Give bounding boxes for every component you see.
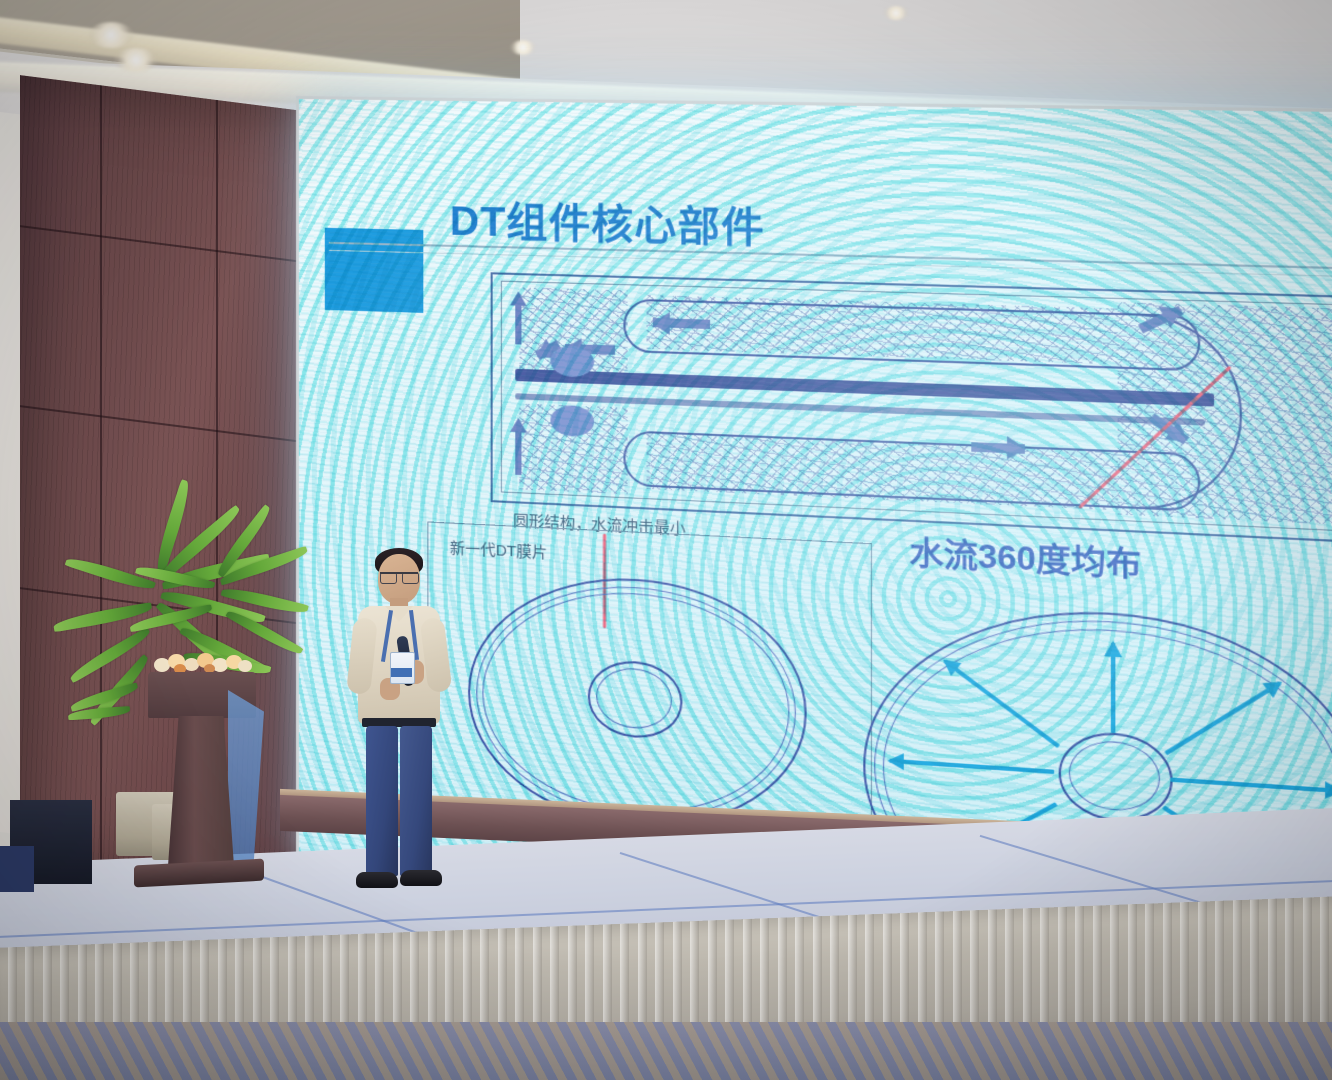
radial-flow-arrow-n: [1111, 643, 1116, 733]
id-badge-strip: [391, 668, 412, 677]
presenter-right-leg: [400, 726, 432, 876]
inlet-stem-upper: [515, 302, 521, 345]
presenter-left-shoe: [356, 872, 398, 888]
stage-skirt-pleat: [1233, 900, 1242, 1040]
stage-bin: [0, 846, 34, 892]
presenter-right-shoe: [400, 870, 442, 886]
stage-skirt-pleat: [1268, 899, 1277, 1039]
stage-skirt-pleat: [1285, 898, 1294, 1038]
slide-title: DT组件核心部件: [450, 188, 765, 255]
podium-column: [168, 716, 234, 866]
inlet-arrow-lower: [510, 417, 526, 432]
callout-360-distribution: 水流360度均布: [909, 526, 1141, 585]
downlight-icon: [884, 6, 908, 20]
stage-skirt-pleat: [1198, 901, 1207, 1041]
stage-skirt-pleat: [1215, 901, 1224, 1041]
glasses-bridge: [380, 572, 418, 583]
downlight-icon: [510, 40, 536, 55]
downlight-icon: [88, 22, 134, 48]
inlet-arrow-upper: [510, 291, 526, 306]
conference-presentation-photo: DT组件核心部件: [0, 0, 1332, 1080]
downlight-icon: [114, 48, 158, 72]
presenter: [330, 548, 460, 918]
title-divider: [329, 242, 1332, 271]
flow-arrow-left-upper: [653, 318, 710, 329]
ballroom-carpet: [0, 1022, 1332, 1080]
stage-skirt-pleat: [1303, 897, 1312, 1037]
stage-skirt-pleat: [1320, 897, 1329, 1037]
title-accent-block: [325, 228, 423, 313]
stage-skirt-pleat: [1250, 899, 1259, 1039]
inlet-stem-lower: [515, 428, 521, 475]
presenter-left-leg: [366, 726, 398, 876]
